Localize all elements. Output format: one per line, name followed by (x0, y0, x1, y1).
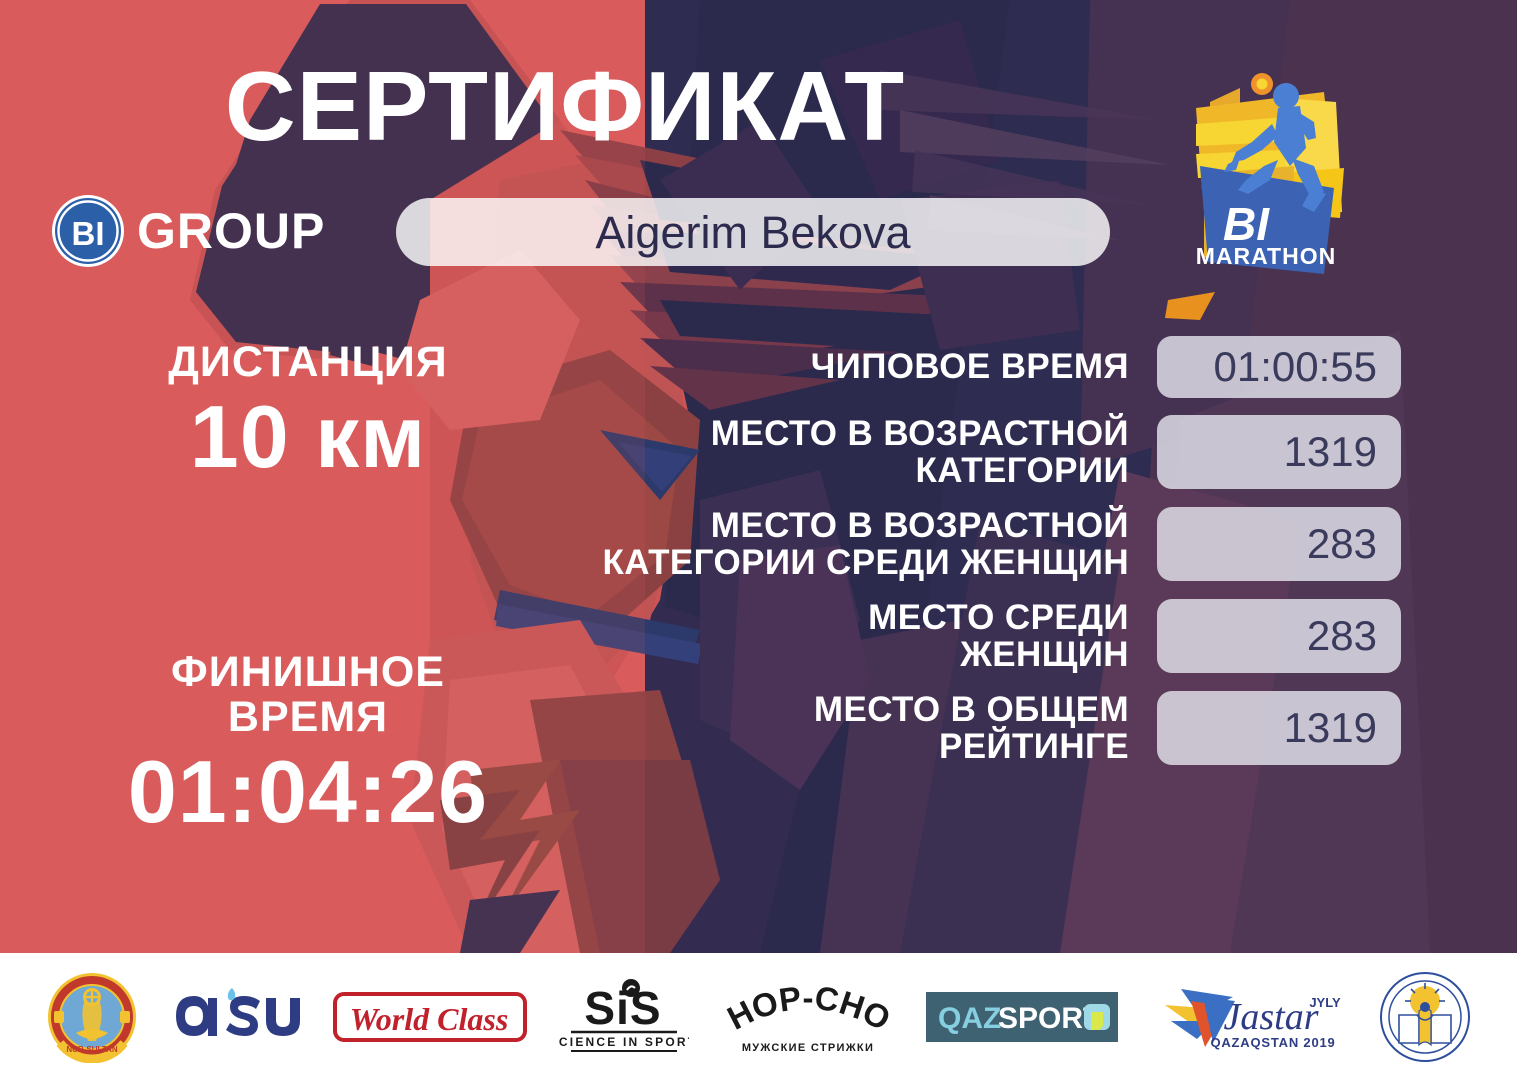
sis-logo-icon: SiS SCIENCE IN SPORT (559, 978, 689, 1056)
chop-chop-tagline: МУЖСКИЕ СТРИЖКИ (742, 1042, 874, 1054)
chop-chop-logo-icon: CHOP-CHOP МУЖСКИЕ СТРИЖКИ (722, 978, 894, 1056)
stat-value-pill: 01:00:55 (1157, 336, 1401, 398)
stat-value: 1319 (1284, 707, 1377, 749)
jastar-sup: JYLY (1309, 995, 1341, 1010)
stat-label: МЕСТО СРЕДИ ЖЕНЩИН (506, 599, 1157, 674)
stat-label: ЧИПОВОЕ ВРЕМЯ (506, 348, 1157, 385)
stat-value-pill: 283 (1157, 507, 1401, 581)
sponsor-asu (170, 986, 300, 1048)
stat-value-pill: 1319 (1157, 691, 1401, 765)
stat-row-age-category-place: МЕСТО В ВОЗРАСТНОЙ КАТЕГОРИИ 1319 (506, 415, 1401, 490)
sponsor-jastar-jyly: Jastar JYLY QAZAQSTAN 2019 (1151, 977, 1347, 1057)
bi-group-mark-icon: BI (50, 193, 126, 269)
bi-group-wordmark: GROUP (137, 206, 325, 256)
chop-chop-wordmark: CHOP-CHOP (722, 978, 894, 1038)
participant-name-field: Aigerim Bekova (396, 198, 1110, 266)
sponsor-nur-sultan: NUR-SULTAN (46, 971, 138, 1063)
stats-list: ЧИПОВОЕ ВРЕМЯ 01:00:55 МЕСТО В ВОЗРАСТНО… (506, 336, 1401, 783)
bi-group-logo: BI GROUP (50, 193, 325, 269)
qazsport-logo-icon: QAZ SPORT (926, 992, 1118, 1042)
stat-value: 1319 (1284, 431, 1377, 473)
jastar-wordmark: Jastar (1223, 996, 1318, 1038)
stat-row-overall-place: МЕСТО В ОБЩЕМ РЕЙТИНГЕ 1319 (506, 691, 1401, 766)
sponsor-bar: NUR-SULTAN World Class SiS (0, 953, 1517, 1080)
stat-value-pill: 283 (1157, 599, 1401, 673)
qazsport-text-qaz: QAZ (938, 1002, 1001, 1035)
stat-row-chip-time: ЧИПОВОЕ ВРЕМЯ 01:00:55 (506, 336, 1401, 398)
stat-label: МЕСТО В ВОЗРАСТНОЙ КАТЕГОРИИ СРЕДИ ЖЕНЩИ… (506, 507, 1157, 582)
nur-sultan-emblem-icon: NUR-SULTAN (46, 971, 138, 1063)
participant-name: Aigerim Bekova (595, 210, 910, 255)
stat-value-pill: 1319 (1157, 415, 1401, 489)
jastar-sub: QAZAQSTAN 2019 (1210, 1035, 1335, 1050)
bi-marathon-logo: BI MARATHON (1174, 62, 1364, 294)
page-title: СЕРТИФИКАТ (0, 57, 1130, 155)
bi-marathon-logo-marathon: MARATHON (1196, 243, 1336, 269)
sponsor-ministry (1379, 971, 1471, 1063)
stat-value: 283 (1307, 523, 1377, 565)
sponsor-world-class: World Class (333, 986, 527, 1048)
ministry-emblem-icon (1379, 971, 1471, 1063)
asu-logo-icon (170, 986, 300, 1048)
jastar-jyly-logo-icon: Jastar JYLY QAZAQSTAN 2019 (1151, 977, 1347, 1057)
stat-row-women-place: МЕСТО СРЕДИ ЖЕНЩИН 283 (506, 599, 1401, 674)
sis-tagline: SCIENCE IN SPORT (559, 1035, 689, 1049)
certificate-canvas: СЕРТИФИКАТ BI GROUP Aigerim Bekova (0, 0, 1517, 1080)
bi-group-mark-text: BI (72, 215, 105, 252)
stat-value: 01:00:55 (1214, 346, 1378, 388)
sponsor-sis: SiS SCIENCE IN SPORT (559, 978, 689, 1056)
world-class-text: World Class (350, 1001, 509, 1037)
nur-sultan-emblem-text: NUR-SULTAN (66, 1045, 117, 1054)
sponsor-qazsport: QAZ SPORT (926, 992, 1118, 1042)
stat-value: 283 (1307, 615, 1377, 657)
sponsor-chop-chop: CHOP-CHOP МУЖСКИЕ СТРИЖКИ (722, 978, 894, 1056)
stat-row-age-category-women-place: МЕСТО В ВОЗРАСТНОЙ КАТЕГОРИИ СРЕДИ ЖЕНЩИ… (506, 507, 1401, 582)
world-class-logo-icon: World Class (333, 986, 527, 1048)
stat-label: МЕСТО В ВОЗРАСТНОЙ КАТЕГОРИИ (506, 415, 1157, 490)
stat-label: МЕСТО В ОБЩЕМ РЕЙТИНГЕ (506, 691, 1157, 766)
